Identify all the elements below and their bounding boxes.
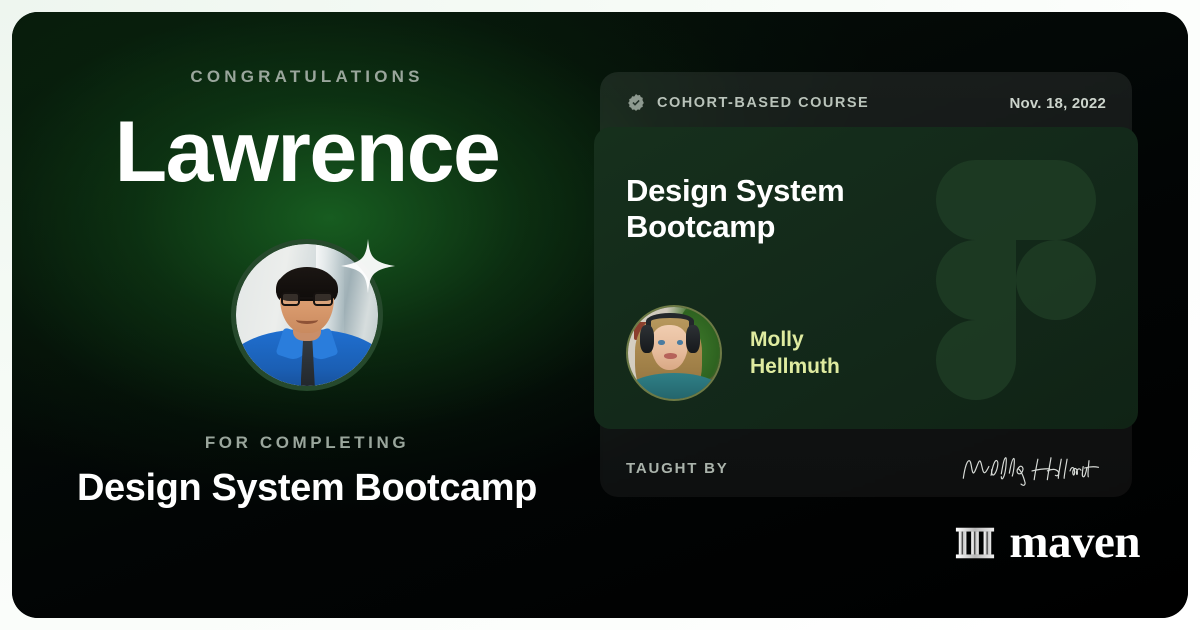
congratulations-label: CONGRATULATIONS	[190, 67, 423, 87]
student-name: Lawrence	[115, 109, 500, 195]
course-card-inner: Design System Bootcamp	[594, 127, 1138, 429]
course-type-label: COHORT-BASED COURSE	[657, 95, 869, 111]
student-avatar	[231, 239, 383, 391]
instructor-row: Molly Hellmuth	[626, 305, 840, 401]
instructor-avatar	[626, 305, 722, 401]
course-date: Nov. 18, 2022	[1009, 95, 1106, 112]
course-card: COHORT-BASED COURSE Nov. 18, 2022 Design…	[600, 72, 1132, 497]
figma-logo-icon	[936, 155, 1096, 405]
certificate-panel: CONGRATULATIONS Lawrence	[12, 12, 1188, 618]
certificate-frame: CONGRATULATIONS Lawrence	[0, 0, 1200, 630]
verified-badge-icon	[626, 93, 646, 113]
instructor-signature	[958, 449, 1106, 487]
course-card-title: Design System Bootcamp	[626, 173, 936, 245]
course-card-footer: TAUGHT BY	[600, 439, 1132, 497]
certificate-left-column: CONGRATULATIONS Lawrence	[12, 12, 602, 618]
course-name: Design System Bootcamp	[77, 467, 537, 510]
student-avatar-ring	[231, 239, 383, 391]
student-avatar-photo	[236, 244, 378, 386]
for-completing-label: FOR COMPLETING	[205, 433, 409, 453]
course-card-header: COHORT-BASED COURSE Nov. 18, 2022	[600, 72, 1132, 134]
instructor-name: Molly Hellmuth	[750, 326, 840, 381]
maven-pillars-icon	[954, 522, 996, 564]
maven-wordmark: maven	[1009, 519, 1140, 566]
maven-logo: maven	[954, 519, 1140, 566]
taught-by-label: TAUGHT BY	[626, 460, 729, 477]
